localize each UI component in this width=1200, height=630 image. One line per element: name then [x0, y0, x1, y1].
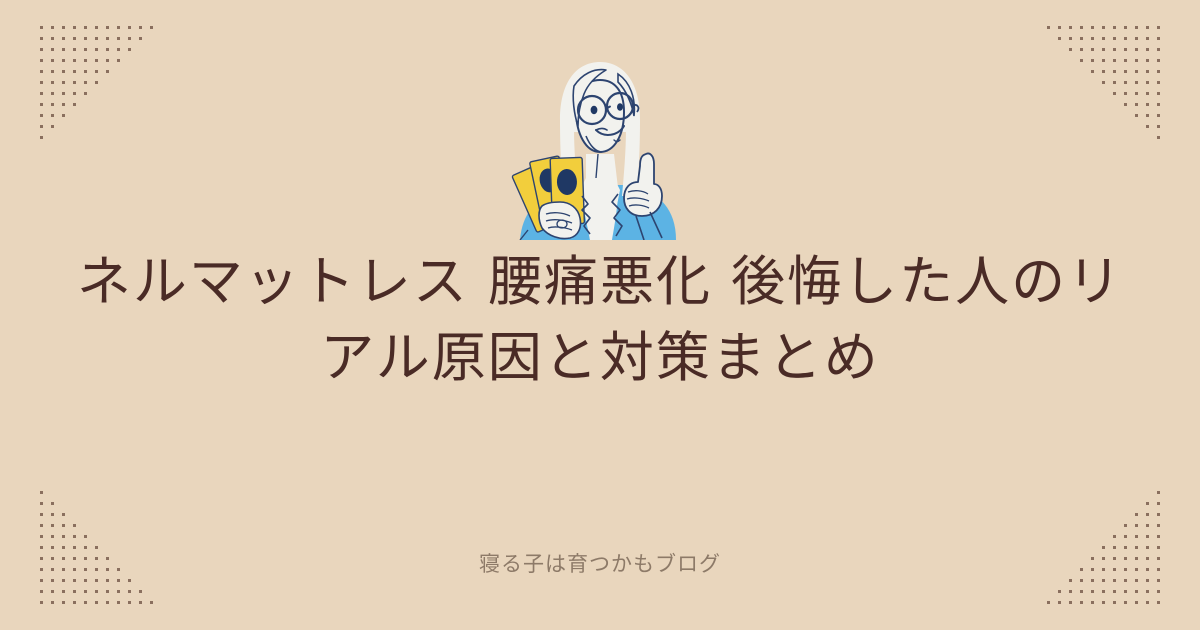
- page-title: ネルマットレス 腰痛悪化 後悔した人のリ アル原因と対策まとめ: [0, 244, 1200, 396]
- dots-bottom-left: [40, 474, 170, 604]
- page-title-line-1: ネルマットレス 腰痛悪化 後悔した人のリ: [60, 244, 1140, 320]
- woman-holding-cash-pointing-up-illustration: [490, 58, 710, 240]
- dots-top-left: [40, 26, 170, 156]
- dots-bottom-right: [1030, 474, 1160, 604]
- page-title-line-2: アル原因と対策まとめ: [60, 320, 1140, 396]
- footer: 寝る子は育つかもブログ: [0, 548, 1200, 578]
- ogp-card: ネルマットレス 腰痛悪化 後悔した人のリ アル原因と対策まとめ 寝る子は育つかも…: [0, 0, 1200, 630]
- site-name: 寝る子は育つかもブログ: [0, 548, 1200, 578]
- dots-top-right: [1030, 26, 1160, 156]
